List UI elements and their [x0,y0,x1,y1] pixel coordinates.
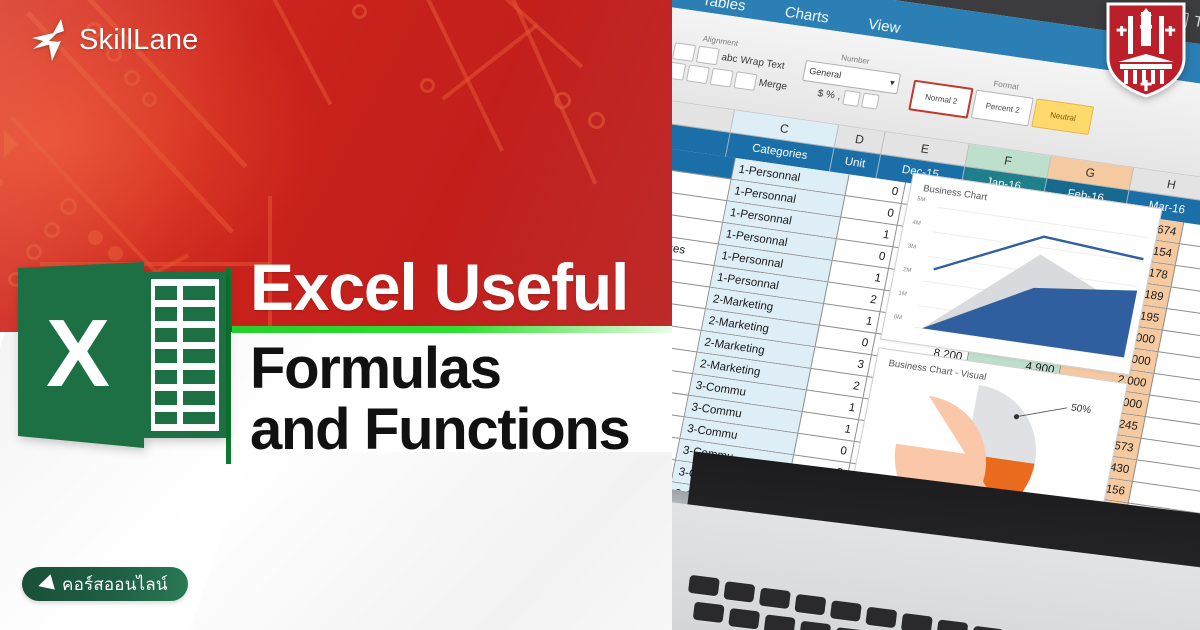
number-group: Number General ▾ $ % , [799,48,904,112]
title-line-1: Excel Useful [232,254,628,320]
document-title: Template 1 [1193,13,1200,40]
style-percent-2[interactable]: Percent 2 [971,89,1034,126]
play-triangle-icon [36,574,55,594]
brand-name: SkillLane [79,24,199,57]
skilllane-bird-mark-icon [30,18,72,62]
title-line-1-container: Excel Useful [232,242,672,332]
align-bottom-button[interactable] [696,45,720,65]
green-divider [232,326,672,333]
title-lines-container: Formulas and Functions [250,338,670,461]
chart-1-plot [881,174,1161,375]
left-panel: SkillLane X [0,0,672,630]
title-line-2: Formulas [250,338,670,399]
alignment-group: Alignment abc Wrap Text Mer [672,26,795,95]
title-line-3: and Functions [250,399,670,460]
style-normal-2[interactable]: Normal 2 [909,79,974,118]
style-neutral[interactable]: Neutral [1032,98,1095,135]
align-right-button[interactable] [686,64,710,84]
online-course-badge[interactable]: คอร์สออนไลน์ [22,567,188,601]
percent-format-button[interactable]: % [825,89,836,101]
business-chart-area[interactable]: Business Chart 5M 4M 3M 2M 1M 0M [880,172,1162,375]
badge-label: คอร์สออนไลน์ [62,571,168,598]
align-middle-button[interactable] [672,42,696,62]
increase-decimal-button[interactable] [842,89,861,106]
tab-charts[interactable]: Charts [783,4,830,27]
number-format-value: General [809,66,843,80]
microsoft-excel-icon: X [18,262,226,448]
indent-increase-button[interactable] [734,71,758,91]
chevron-down-icon: ▾ [889,77,896,88]
tab-view[interactable]: View [867,16,902,37]
currency-format-button[interactable]: $ [817,88,825,100]
wrap-text-button[interactable]: Wrap Text [739,54,785,71]
university-crest-emblem [1104,2,1188,98]
skilllane-logo[interactable]: SkillLane [30,18,199,62]
number-group-label: Number [841,53,871,66]
indent-decrease-button[interactable] [710,67,734,87]
comma-format-button[interactable]: , [837,91,842,102]
align-center-button[interactable] [672,60,686,80]
format-group-label: Format [993,79,1020,91]
format-group: Format Normal 2 Percent 2 Neutral [909,67,1098,135]
green-accent-rule [226,268,231,464]
course-banner: SkillLane X [0,0,1200,630]
svg-text:X: X [46,300,110,407]
merge-button[interactable]: Merge [758,77,788,92]
abc-spelling-button[interactable]: abc [720,52,738,65]
laptop-photo: Template 1 Insert Tables Charts View A A [672,0,1200,630]
decrease-decimal-button[interactable] [861,92,880,109]
chart-2-slice-label: 50% [1070,402,1092,416]
